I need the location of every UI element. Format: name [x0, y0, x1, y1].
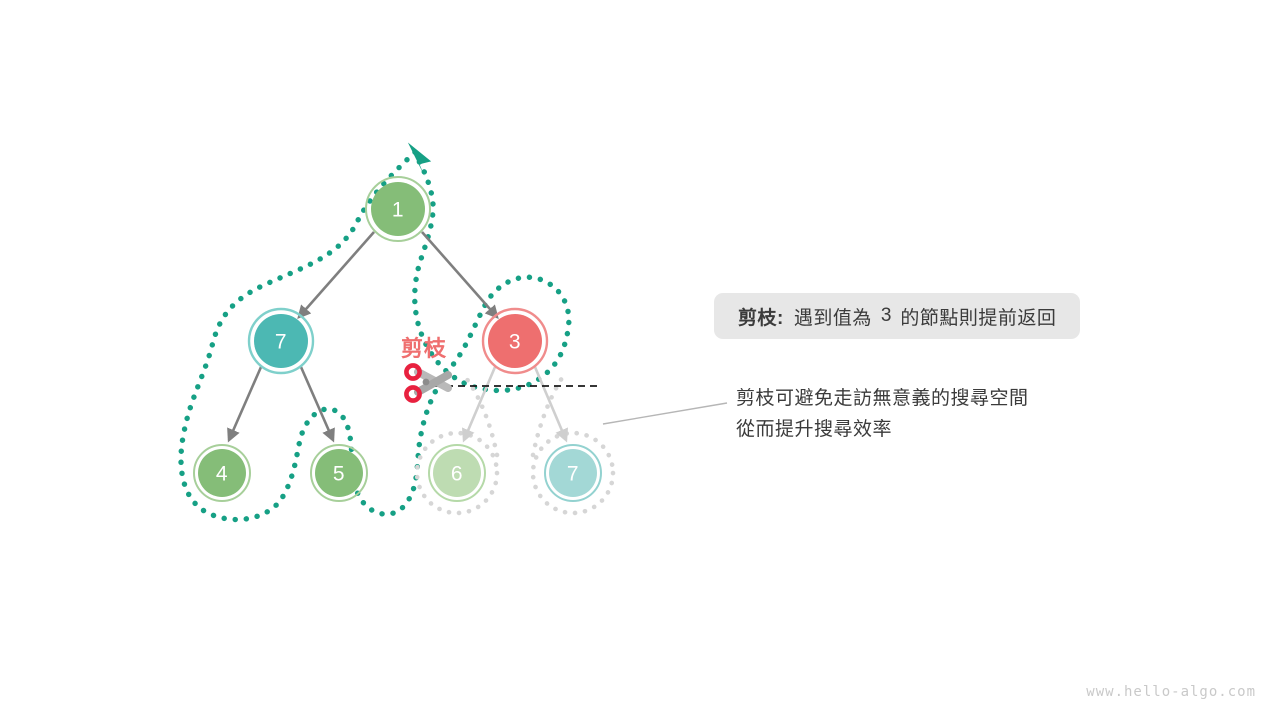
edge-left-ll — [229, 367, 261, 440]
binary-tree-pruning-diagram — [0, 0, 1280, 720]
scissors-icon — [406, 365, 448, 400]
tree-node-5[interactable] — [311, 445, 367, 501]
tree-node-4[interactable] — [194, 445, 250, 501]
tree-node-7-pruned[interactable] — [545, 445, 601, 501]
edge-root-right — [422, 232, 497, 317]
tree-nodes — [194, 177, 601, 501]
caption-leader-line — [603, 403, 727, 424]
traversal-arrowhead — [408, 138, 434, 178]
tree-node-6-pruned[interactable] — [429, 445, 485, 501]
edge-left-lr — [301, 367, 333, 440]
tree-node-3[interactable] — [483, 309, 547, 373]
edge-right-rl — [464, 367, 495, 440]
tree-node-1[interactable] — [366, 177, 430, 241]
tree-node-7-left[interactable] — [249, 309, 313, 373]
